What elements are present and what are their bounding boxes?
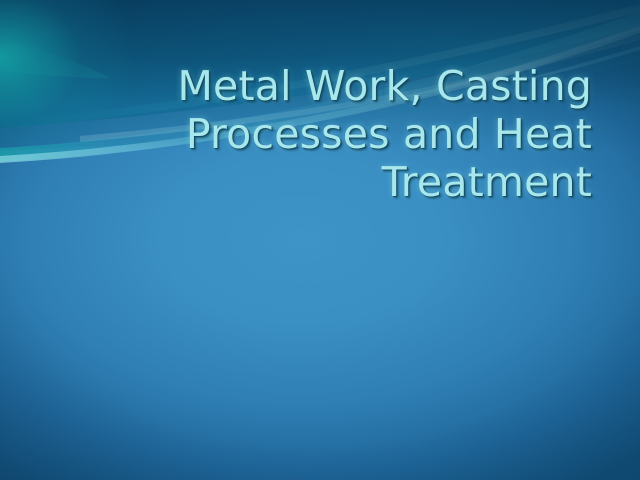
slide-title: Metal Work, Casting Processes and Heat T… — [40, 62, 592, 206]
title-line-2: Processes and Heat — [40, 110, 592, 158]
title-line-1: Metal Work, Casting — [40, 62, 592, 110]
title-slide: Metal Work, Casting Processes and Heat T… — [0, 0, 640, 480]
title-line-3: Treatment — [40, 158, 592, 206]
